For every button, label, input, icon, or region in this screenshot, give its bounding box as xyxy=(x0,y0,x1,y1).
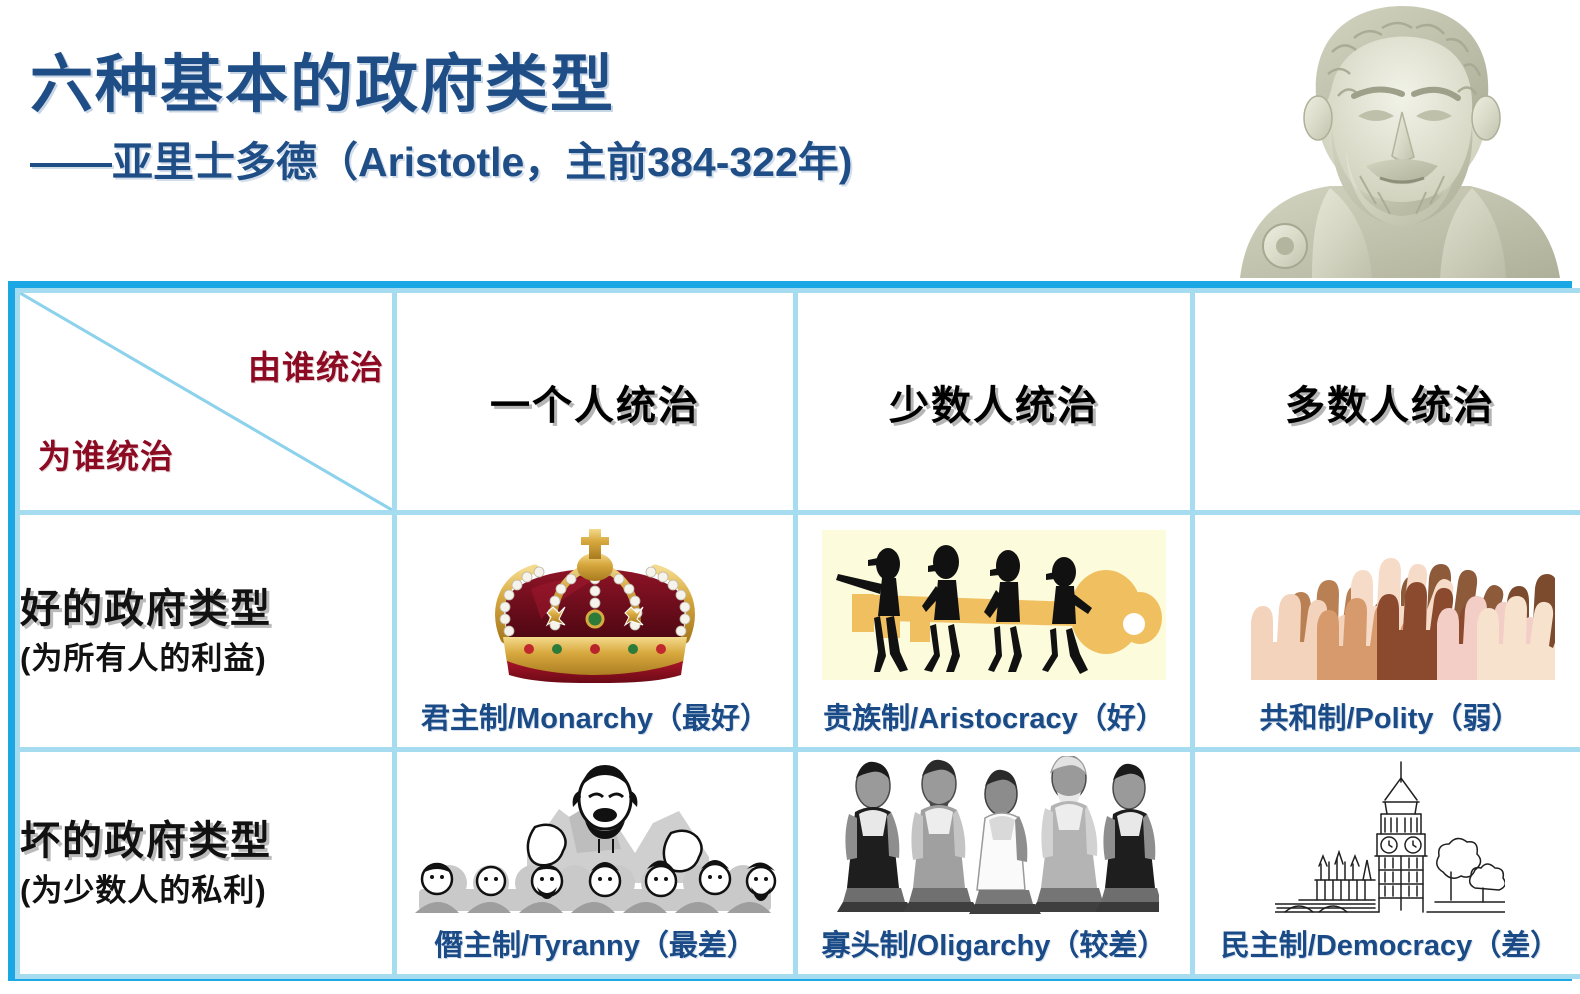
column-header-label: 一个人统治 xyxy=(397,373,793,431)
royal-crown-icon xyxy=(397,515,793,695)
aristotle-bust-image xyxy=(1220,0,1580,278)
cell-polity[interactable]: 共和制/Polity（弱） xyxy=(1193,513,1580,750)
row-label-main: 坏的政府类型 xyxy=(20,816,392,866)
row-header-bad-governments: 坏的政府类型 (为少数人的私利) xyxy=(18,750,395,977)
figures-carrying-key-icon xyxy=(798,515,1190,695)
cell-caption: 民主制/Democracy（差） xyxy=(1221,922,1559,970)
cell-caption: 僭主制/Tyranny（最差） xyxy=(434,922,756,970)
table-row-good-governments: 好的政府类型 (为所有人的利益) xyxy=(18,513,1580,750)
table-row-bad-governments: 坏的政府类型 (为少数人的私利) xyxy=(18,750,1580,977)
raised-hands-icon xyxy=(1195,515,1580,695)
cell-caption: 君主制/Monarchy（最好） xyxy=(421,695,769,743)
row-label-main: 好的政府类型 xyxy=(20,584,392,634)
slide-header: 六种基本的政府类型 ——亚里士多德（Aristotle，主前384-322年) xyxy=(0,0,1580,278)
title-block: 六种基本的政府类型 ——亚里士多德（Aristotle，主前384-322年) xyxy=(30,52,1210,185)
tyrant-over-crowd-icon xyxy=(397,752,793,922)
cell-oligarchy[interactable]: 寡头制/Oligarchy（较差） xyxy=(796,750,1193,977)
column-header-label: 少数人统治 xyxy=(798,373,1190,431)
five-robed-elites-icon xyxy=(798,752,1190,922)
column-header-many-rulers: 多数人统治 xyxy=(1193,291,1580,513)
corner-axis-cell: 由谁统治 为谁统治 xyxy=(18,291,395,513)
axis-label-ruled-for: 为谁统治 xyxy=(38,430,174,478)
cell-monarchy[interactable]: 君主制/Monarchy（最好） xyxy=(395,513,796,750)
cell-aristocracy[interactable]: 贵族制/Aristocracy（好） xyxy=(796,513,1193,750)
column-header-one-ruler: 一个人统治 xyxy=(395,291,796,513)
column-header-label: 多数人统治 xyxy=(1195,373,1580,431)
page-title: 六种基本的政府类型 xyxy=(30,52,1210,118)
cell-caption: 贵族制/Aristocracy（好） xyxy=(823,695,1165,743)
cell-caption: 寡头制/Oligarchy（较差） xyxy=(822,922,1167,970)
big-ben-sketch-icon xyxy=(1195,752,1580,922)
government-types-matrix: 由谁统治 为谁统治 一个人统治 少数人统治 多数人统治 好的政府类型 (为所有人… xyxy=(8,281,1572,981)
axis-label-ruled-by: 由谁统治 xyxy=(248,341,384,389)
page-subtitle: ——亚里士多德（Aristotle，主前384-322年) xyxy=(30,140,1210,185)
cell-democracy[interactable]: 民主制/Democracy（差） xyxy=(1193,750,1580,977)
cell-caption: 共和制/Polity（弱） xyxy=(1259,695,1520,743)
row-header-good-governments: 好的政府类型 (为所有人的利益) xyxy=(18,513,395,750)
row-label-sub: (为少数人的私利) xyxy=(20,872,392,911)
cell-tyranny[interactable]: 僭主制/Tyranny（最差） xyxy=(395,750,796,977)
column-header-few-rulers: 少数人统治 xyxy=(796,291,1193,513)
row-label-sub: (为所有人的利益) xyxy=(20,640,392,679)
table-header-row: 由谁统治 为谁统治 一个人统治 少数人统治 多数人统治 xyxy=(18,291,1580,513)
